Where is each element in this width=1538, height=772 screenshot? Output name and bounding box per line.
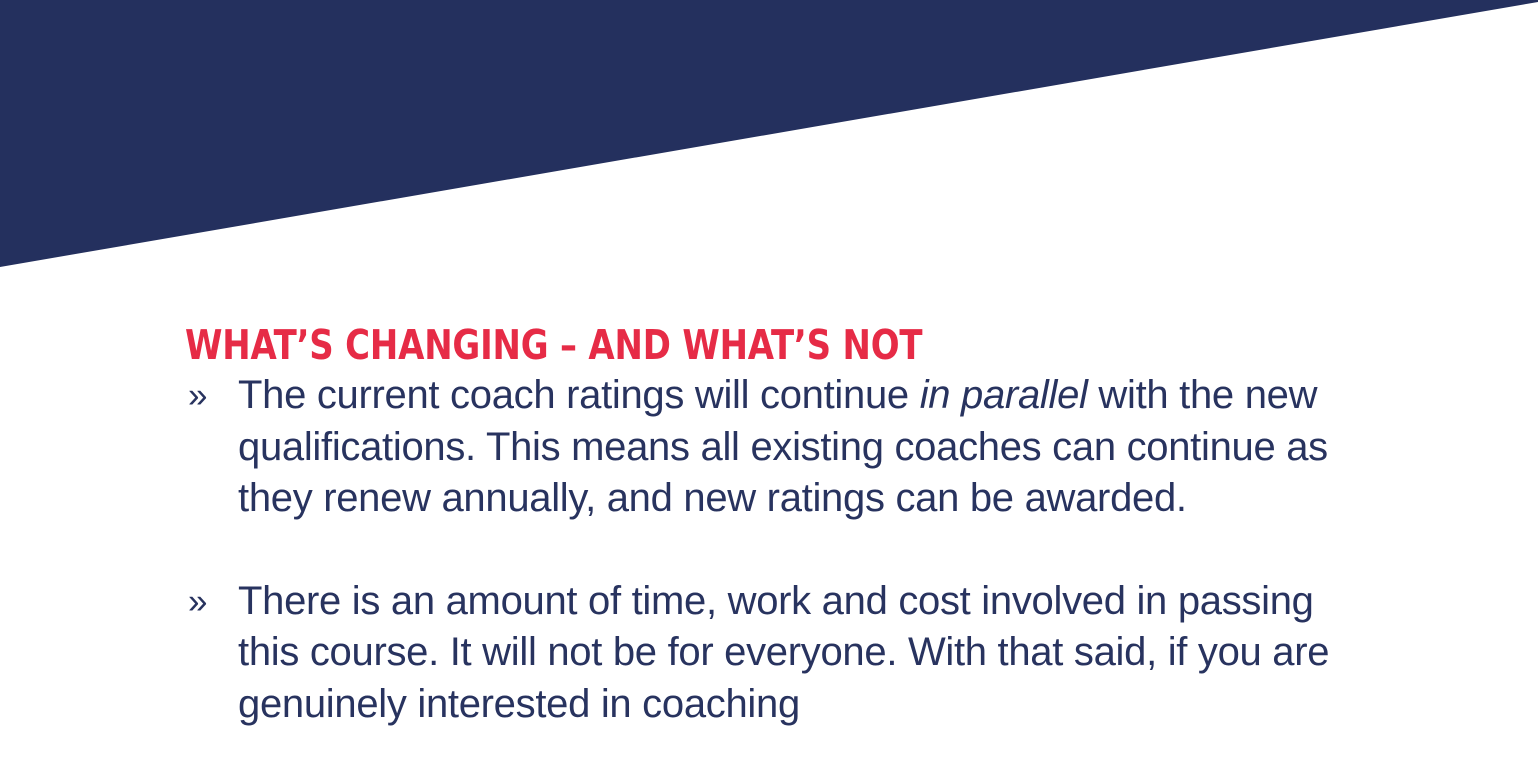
list-item: » The current coach ratings will continu… <box>185 370 1385 525</box>
list-item-text-emphasis: in parallel <box>920 373 1088 417</box>
slide-canvas: WHAT’S CHANGING – AND WHAT’S NOT » The c… <box>0 0 1538 772</box>
double-angle-bullet-icon: » <box>185 370 238 422</box>
list-item-text: The current coach ratings will continue … <box>238 370 1360 525</box>
list-item-text: There is an amount of time, work and cos… <box>238 576 1360 731</box>
list-item-text-part: There is an amount of time, work and cos… <box>238 579 1329 726</box>
navy-diagonal-banner <box>0 0 1538 280</box>
list-item-text-part: The current coach ratings will continue <box>238 373 920 417</box>
list-item: » There is an amount of time, work and c… <box>185 576 1385 731</box>
page-title: WHAT’S CHANGING – AND WHAT’S NOT <box>185 322 1289 368</box>
bullet-list: » The current coach ratings will continu… <box>185 370 1385 730</box>
slide-content: WHAT’S CHANGING – AND WHAT’S NOT » The c… <box>185 322 1385 730</box>
double-angle-bullet-icon: » <box>185 576 238 628</box>
